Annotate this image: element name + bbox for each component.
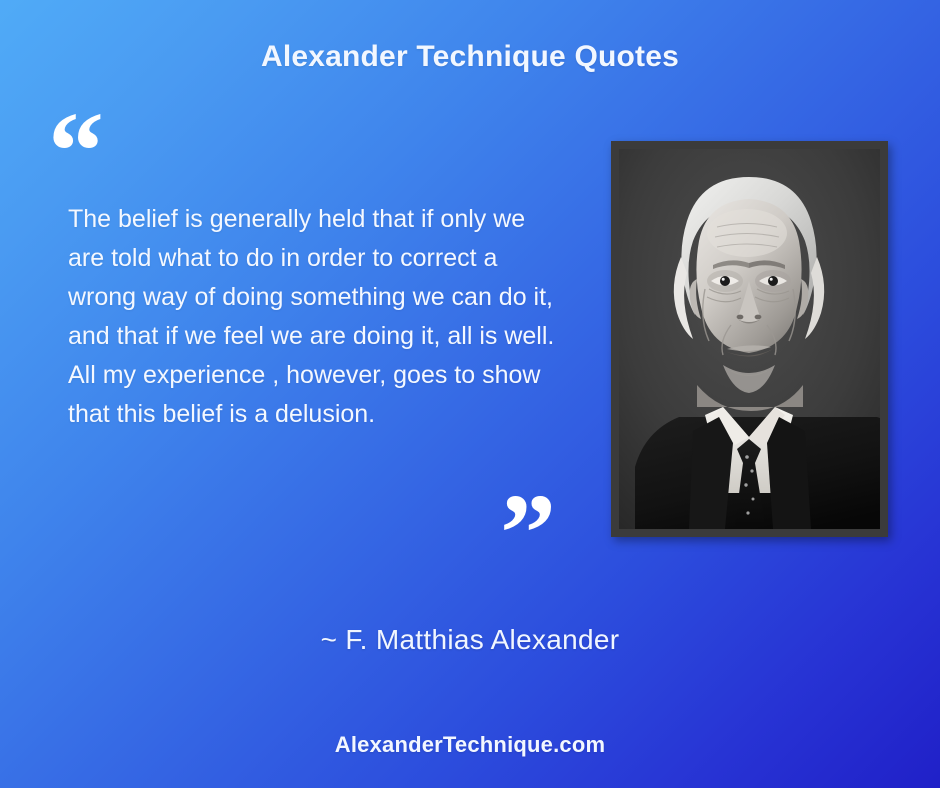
portrait-frame — [611, 141, 888, 537]
page-title: Alexander Technique Quotes — [0, 40, 940, 74]
quote-card: Alexander Technique Quotes “ The belief … — [0, 0, 940, 788]
quote-text: The belief is generally held that if onl… — [68, 200, 564, 434]
portrait-illustration — [619, 149, 880, 529]
site-footer: AlexanderTechnique.com — [0, 732, 940, 758]
open-quote-icon: “ — [48, 96, 104, 208]
quote-attribution: ~ F. Matthias Alexander — [0, 624, 940, 656]
portrait-photo — [619, 149, 880, 529]
close-quote-icon: ” — [500, 478, 556, 590]
